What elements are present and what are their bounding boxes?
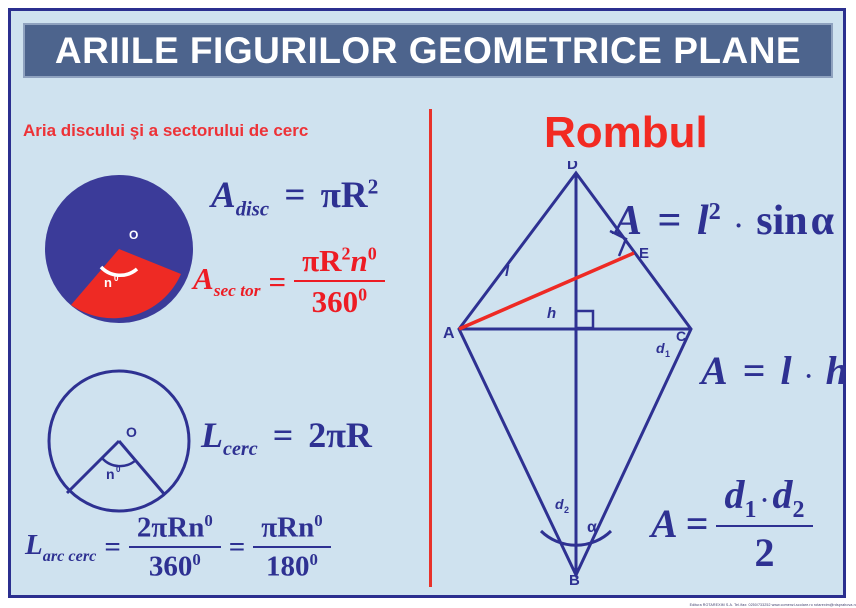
formula-sector-area: Asec tor = πR2n0 3600 [193, 243, 385, 320]
poster-canvas: ARIILE FIGURILOR GEOMETRICE PLANE Aria d… [8, 8, 846, 598]
radius-right [119, 441, 165, 495]
page-title: ARIILE FIGURILOR GEOMETRICE PLANE [55, 30, 801, 72]
vertex-label-B: B [569, 572, 580, 586]
vertex-label-C: C [676, 328, 686, 344]
vertical-divider [429, 109, 432, 587]
formula-rhombus-base-height: A = l · h [701, 347, 848, 394]
angle-label-alpha: α [587, 519, 597, 536]
left-panel-subtitle: Aria discului şi a sectorului de cerc [23, 121, 308, 141]
diagonal-label-d2: d [555, 496, 564, 512]
disc-center-label: O [129, 228, 138, 242]
right-angle-center [576, 311, 593, 328]
disc-angle-degree: 0 [114, 274, 119, 283]
vertex-label-A: A [443, 325, 455, 342]
right-panel-title: Rombul [544, 108, 708, 158]
circle-center-label: O [126, 424, 137, 440]
foot-label-E: E [639, 245, 649, 262]
disc-angle-label: n [104, 275, 112, 290]
poster-title-bar: ARIILE FIGURILOR GEOMETRICE PLANE [23, 23, 833, 78]
disc-sector-diagram: O n 0 [41, 169, 211, 334]
formula-circumference: Lcerc = 2πR [201, 414, 372, 461]
formula-arc-length: Larc cerc = 2πRn0 3600 = πRn0 1800 [25, 511, 331, 583]
formula-disc-area: Adisc = πR2 [211, 174, 378, 221]
side-label-l: l [505, 263, 510, 280]
diagonal-sub-1: 1 [665, 349, 670, 359]
diagonal-label-d1: d [656, 340, 665, 356]
formula-rhombus-sin: A = l2 · sinα [614, 197, 834, 245]
circle-angle-degree: 0 [116, 465, 121, 474]
vertex-label-D: D [567, 161, 578, 173]
diagonal-sub-2: 2 [564, 505, 569, 515]
height-label-h: h [547, 305, 556, 322]
circle-angle-label: n [106, 466, 115, 482]
footer-imprint: Editura ROTAREXIM S.A. Tel./fax: 0250/73… [651, 603, 856, 607]
formula-rhombus-diagonals: A = d1·d2 2 [651, 471, 813, 576]
circle-angle-diagram: O n 0 [43, 367, 201, 517]
